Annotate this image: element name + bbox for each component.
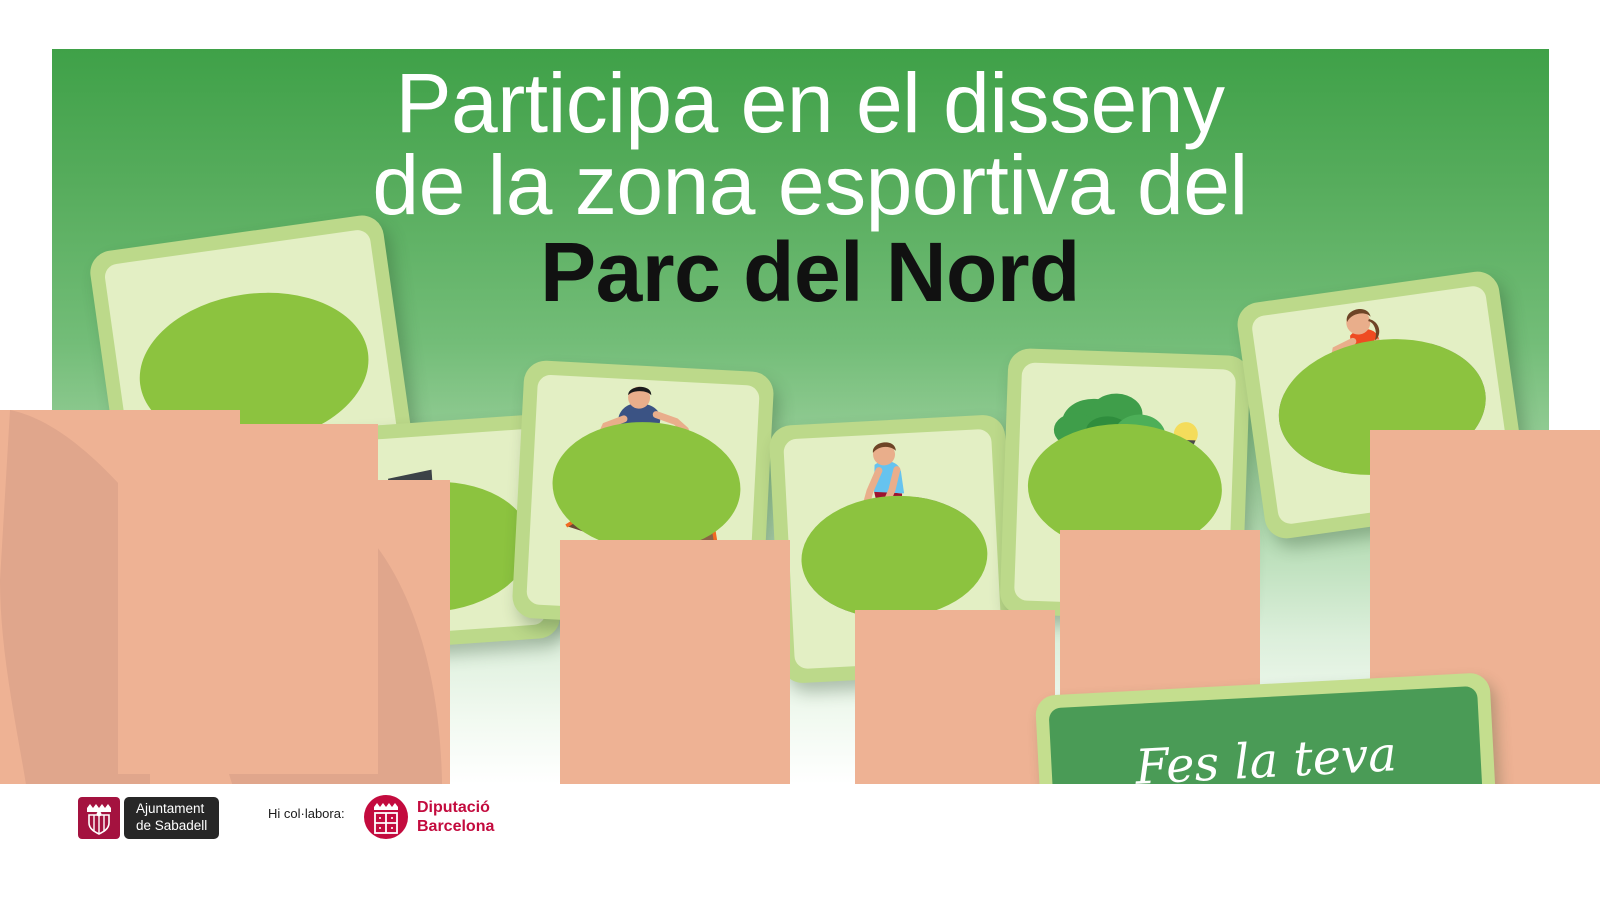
sabadell-line-1: Ajuntament <box>136 801 207 818</box>
logo-ajuntament-sabadell[interactable]: Ajuntament de Sabadell <box>78 797 219 839</box>
footer-logos: Ajuntament de Sabadell Hi col·labora: Di… <box>0 784 1600 900</box>
diputacio-wordmark: Diputació Barcelona <box>417 798 494 836</box>
collaborator-label: Hi col·labora: <box>268 806 345 821</box>
diputacio-line-2: Barcelona <box>417 817 494 836</box>
logo-diputacio-barcelona[interactable]: Diputació Barcelona <box>364 795 494 839</box>
page-title: Participa en el disseny de la zona espor… <box>250 62 1370 313</box>
sabadell-line-2: de Sabadell <box>136 818 207 835</box>
diputacio-crest-icon <box>364 795 408 839</box>
title-line-3: Parc del Nord <box>250 231 1370 313</box>
banner-root: Participa en el disseny de la zona espor… <box>0 0 1600 900</box>
sabadell-crest-icon <box>78 797 120 839</box>
diputacio-line-1: Diputació <box>417 798 494 817</box>
hand-left-thumb <box>118 424 378 774</box>
title-line-1: Participa en el disseny <box>250 62 1370 144</box>
title-line-2: de la zona esportiva del <box>250 144 1370 226</box>
sabadell-wordmark: Ajuntament de Sabadell <box>124 797 219 839</box>
